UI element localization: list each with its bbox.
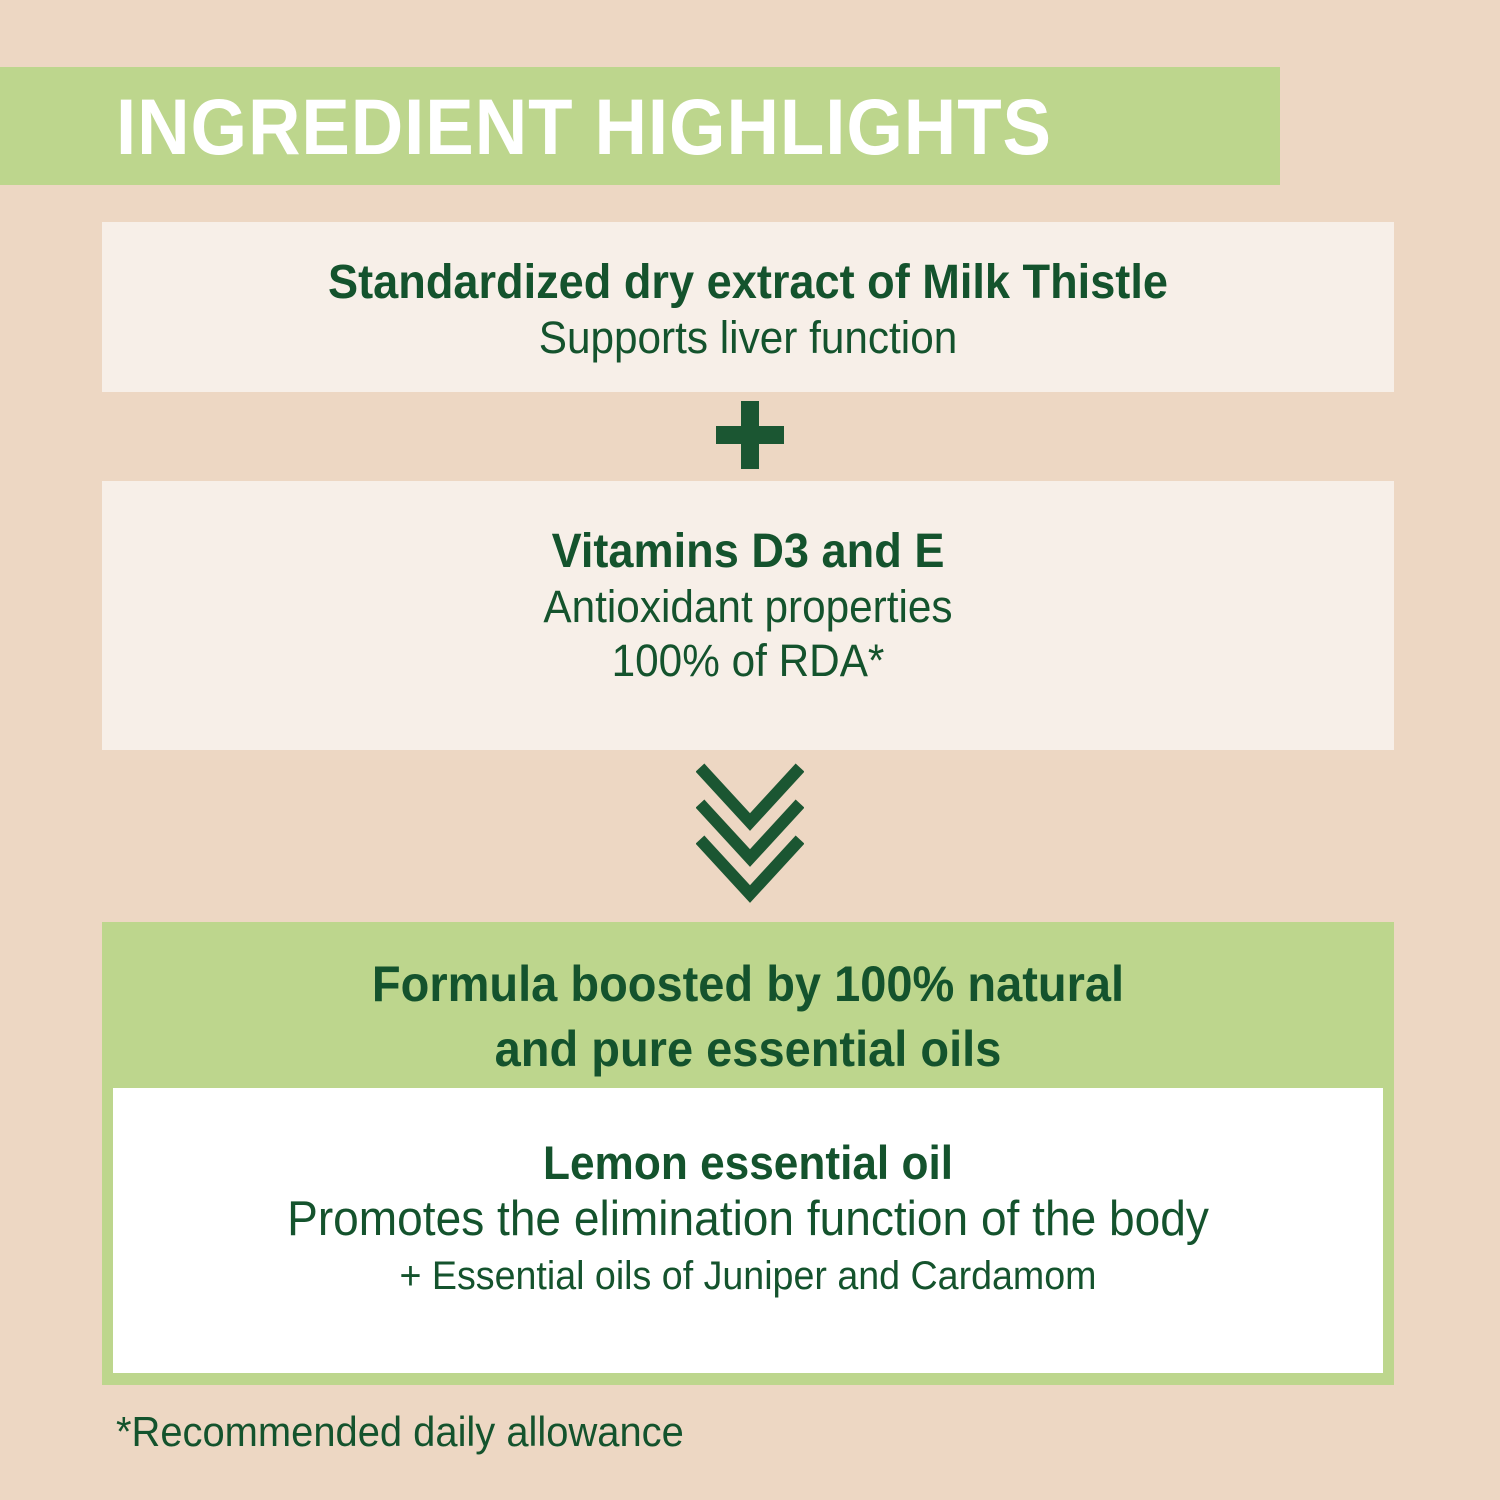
ingredient-card-milk-thistle: Standardized dry extract of Milk Thistle… — [102, 222, 1394, 392]
feature-box-essential-oils: Formula boosted by 100% natural and pure… — [102, 922, 1394, 1385]
plus-separator — [0, 400, 1500, 470]
card-subtext-vitamins-line-1: Antioxidant properties — [141, 580, 1355, 634]
lemon-oil-additional-oils: + Essential oils of Juniper and Cardamom — [151, 1249, 1345, 1303]
card-heading-milk-thistle: Standardized dry extract of Milk Thistle — [141, 256, 1355, 311]
infographic-page: INGREDIENT HIGHLIGHTS Standardized dry e… — [0, 0, 1500, 1500]
lemon-oil-panel: Lemon essential oil Promotes the elimina… — [113, 1088, 1383, 1373]
feature-box-heading-line-2: and pure essential oils — [141, 1014, 1355, 1079]
plus-icon — [716, 401, 784, 469]
chevron-down-group — [0, 762, 1500, 908]
ingredient-card-vitamins: Vitamins D3 and E Antioxidant properties… — [102, 481, 1394, 750]
card-heading-vitamins: Vitamins D3 and E — [141, 525, 1355, 580]
card-subtext-milk-thistle-line-1: Supports liver function — [141, 311, 1355, 365]
card-subtext-vitamins-line-2: 100% of RDA* — [141, 634, 1355, 688]
header-band: INGREDIENT HIGHLIGHTS — [0, 67, 1280, 185]
lemon-oil-description: Promotes the elimination function of the… — [151, 1190, 1345, 1249]
feature-box-heading-line-1: Formula boosted by 100% natural — [141, 922, 1355, 1014]
chevron-down-icon — [696, 762, 804, 908]
lemon-oil-heading: Lemon essential oil — [151, 1135, 1345, 1190]
page-title: INGREDIENT HIGHLIGHTS — [116, 87, 1052, 166]
footnote-rda: *Recommended daily allowance — [116, 1408, 684, 1456]
